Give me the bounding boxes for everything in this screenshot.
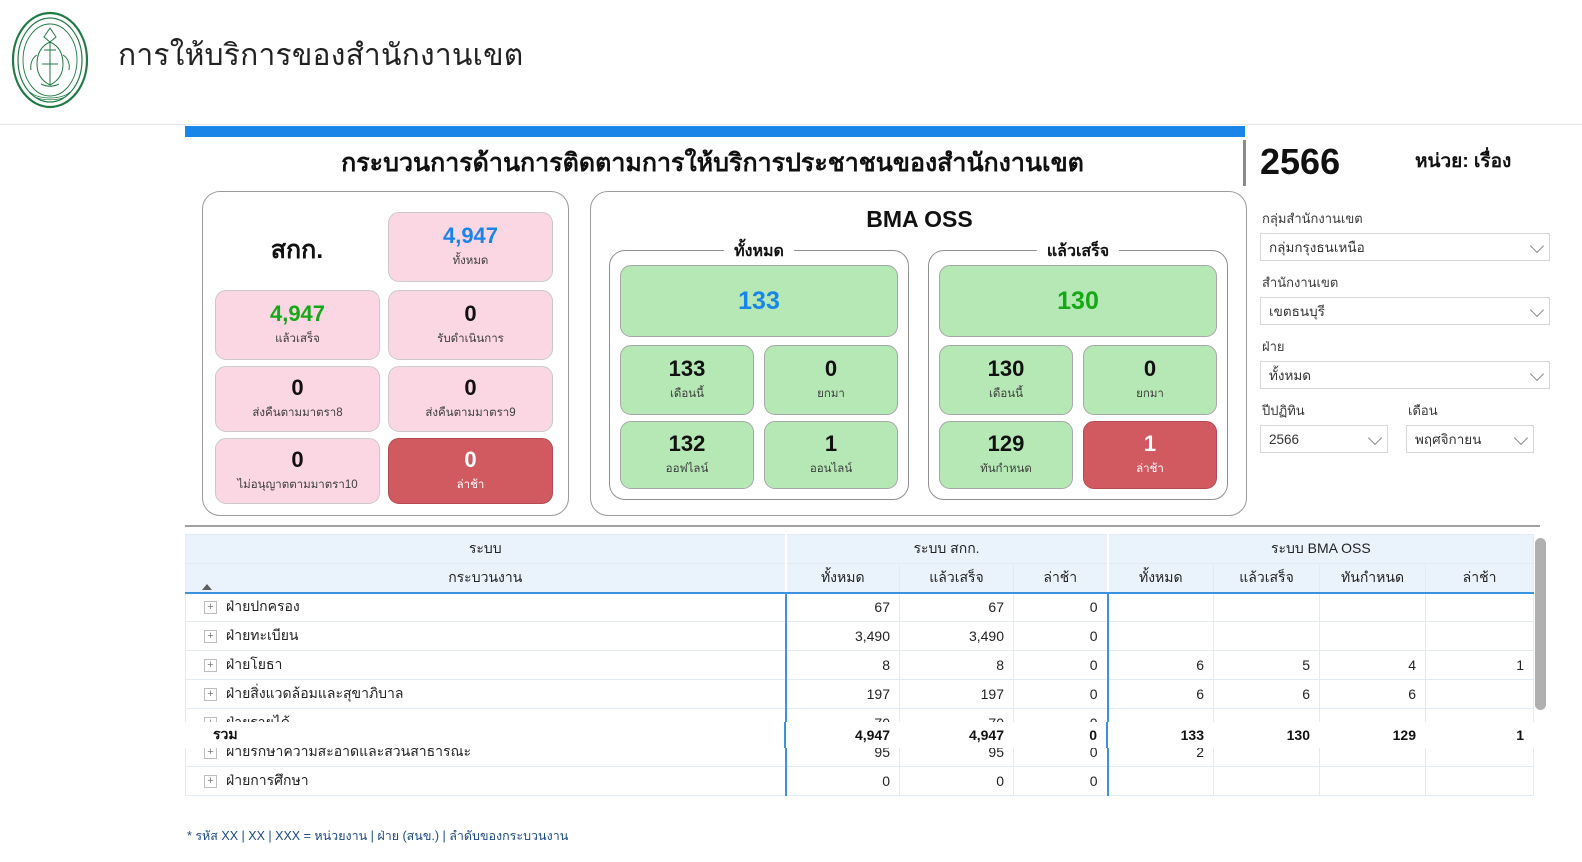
kpi-oss-complete-this-month[interactable]: 130 เดือนนี้ — [939, 345, 1073, 415]
kpi-caption: ล่าช้า — [1136, 460, 1164, 478]
filter-select-month[interactable]: พฤศจิกายน — [1406, 425, 1534, 453]
kpi-value: 4,947 — [270, 302, 325, 325]
filter-select-district-group[interactable]: กลุ่มกรุงธนเหนือ — [1260, 233, 1550, 261]
filter-value-division: ทั้งหมด — [1269, 364, 1311, 386]
kpi-caption: เดือนนี้ — [989, 385, 1023, 403]
chevron-down-icon — [1530, 367, 1544, 381]
process-table[interactable]: ระบบ ระบบ สกก. ระบบ BMA OSS กระบวนงาน ทั… — [185, 534, 1540, 814]
kpi-oss-all-headline[interactable]: 133 — [620, 265, 898, 337]
kpi-sgk-overdue[interactable]: 0 ล่าช้า — [388, 438, 553, 504]
table-cell-sgk-total: 3,490 — [786, 622, 900, 651]
kpi-value: 130 — [1057, 288, 1099, 314]
kpi-value: 4,947 — [443, 224, 498, 247]
kpi-value: 1 — [825, 432, 837, 455]
oss-group-all-legend: ทั้งหมด — [724, 239, 794, 264]
table-cell-sgk-complete: 3,490 — [900, 622, 1014, 651]
bma-seal-icon — [8, 8, 92, 112]
table-cell-oss-overdue: 1 — [1426, 651, 1534, 680]
table-cell-process-name[interactable]: +ฝ่ายการศึกษา — [186, 767, 786, 796]
table-cell-label: ฝ่ายการศึกษา — [226, 772, 309, 788]
total-oss-total: 133 — [1107, 722, 1213, 748]
kpi-oss-all-offline[interactable]: 132 ออฟไลน์ — [620, 421, 754, 489]
oss-group-all: ทั้งหมด 133 133 เดือนนี้ 0 ยกมา 132 ออ — [609, 250, 909, 500]
table-cell-oss-complete: 6 — [1214, 680, 1320, 709]
table-cell-oss-on-time: 4 — [1320, 651, 1426, 680]
kpi-value: 132 — [669, 432, 706, 455]
kpi-value: 0 — [291, 448, 303, 471]
kpi-caption: ส่งคืนตามมาตรา9 — [425, 404, 515, 422]
table-cell-oss-on-time — [1320, 622, 1426, 651]
board-title: กระบวนการด้านการติดตามการให้บริการประชาช… — [185, 143, 1240, 183]
table-row[interactable]: +ฝ่ายโยธา8806541 — [186, 651, 1534, 680]
filter-value-month: พฤศจิกายน — [1415, 428, 1481, 450]
app-header: การให้บริการของสำนักงานเขต — [0, 0, 1582, 125]
kpi-value: 0 — [1144, 357, 1156, 380]
table-group-header-sgk[interactable]: ระบบ สกก. — [786, 535, 1108, 564]
table-cell-sgk-complete: 0 — [900, 767, 1014, 796]
table-cell-label: ฝ่ายโยธา — [226, 656, 282, 672]
table-cell-sgk-total: 67 — [786, 593, 900, 622]
table-cell-sgk-overdue: 0 — [1014, 593, 1108, 622]
total-sgk-overdue: 0 — [1013, 722, 1107, 748]
table-column-process[interactable]: กระบวนงาน — [186, 564, 786, 593]
kpi-value: 0 — [464, 376, 476, 399]
table-scrollbar-thumb[interactable] — [1535, 538, 1546, 710]
filter-select-division[interactable]: ทั้งหมด — [1260, 361, 1550, 389]
table-scrollbar-track[interactable] — [1534, 534, 1546, 814]
table-group-header-oss[interactable]: ระบบ BMA OSS — [1108, 535, 1534, 564]
filter-label-month: เดือน — [1408, 400, 1534, 421]
table-cell-oss-complete — [1214, 767, 1320, 796]
chevron-down-icon — [1514, 431, 1528, 445]
kpi-value: 129 — [988, 432, 1025, 455]
table-row[interactable]: +ฝ่ายปกครอง67670 — [186, 593, 1534, 622]
table-cell-label: ฝ่ายปกครอง — [226, 598, 300, 614]
kpi-sgk-returned-sec9[interactable]: 0 ส่งคืนตามมาตรา9 — [388, 366, 553, 432]
table-column-sgk-total[interactable]: ทั้งหมด — [786, 564, 900, 593]
table-cell-oss-total — [1108, 593, 1214, 622]
table-cell-process-name[interactable]: +ฝ่ายสิ่งแวดล้อมและสุขาภิบาล — [186, 680, 786, 709]
table-cell-oss-overdue — [1426, 680, 1534, 709]
table-cell-sgk-overdue: 0 — [1014, 651, 1108, 680]
expand-row-icon[interactable]: + — [204, 630, 217, 643]
expand-row-icon[interactable]: + — [204, 775, 217, 788]
kpi-caption: เดือนนี้ — [670, 385, 704, 403]
kpi-value: 0 — [825, 357, 837, 380]
kpi-value: 0 — [464, 448, 476, 471]
kpi-oss-all-online[interactable]: 1 ออนไลน์ — [764, 421, 898, 489]
table-cell-sgk-complete: 67 — [900, 593, 1014, 622]
filter-select-year[interactable]: 2566 — [1260, 425, 1388, 453]
kpi-sgk-in-progress[interactable]: 0 รับดำเนินการ — [388, 290, 553, 360]
kpi-caption: ออฟไลน์ — [666, 460, 709, 478]
table-cell-oss-total: 6 — [1108, 680, 1214, 709]
panel-oss-title: BMA OSS — [591, 206, 1248, 233]
kpi-caption: ไม่อนุญาตตามมาตรา10 — [237, 476, 357, 494]
table-column-oss-complete[interactable]: แล้วเสร็จ — [1214, 564, 1320, 593]
table-cell-oss-complete — [1214, 622, 1320, 651]
kpi-oss-complete-on-time[interactable]: 129 ทันกำหนด — [939, 421, 1073, 489]
table-cell-oss-total — [1108, 622, 1214, 651]
filter-value-year: 2566 — [1269, 432, 1299, 447]
oss-group-complete: แล้วเสร็จ 130 130 เดือนนี้ 0 ยกมา 129 — [928, 250, 1228, 500]
table-cell-label: ฝ่ายสิ่งแวดล้อมและสุขาภิบาล — [226, 685, 404, 701]
kpi-caption: ล่าช้า — [457, 476, 485, 494]
year-value: 2566 — [1260, 140, 1340, 184]
table-cell-sgk-overdue: 0 — [1014, 767, 1108, 796]
page-title: การให้บริการของสำนักงานเขต — [118, 32, 523, 79]
kpi-sgk-returned-sec8[interactable]: 0 ส่งคืนตามมาตรา8 — [215, 366, 380, 432]
table-column-sgk-complete[interactable]: แล้วเสร็จ — [900, 564, 1014, 593]
expand-row-icon[interactable]: + — [204, 688, 217, 701]
kpi-caption: ยกมา — [1136, 385, 1164, 403]
kpi-sgk-denied-sec10[interactable]: 0 ไม่อนุญาตตามมาตรา10 — [215, 438, 380, 504]
table-body: +ฝ่ายปกครอง67670+ฝ่ายทะเบียน3,4903,4900+… — [186, 593, 1534, 796]
table-cell-sgk-complete: 8 — [900, 651, 1014, 680]
kpi-value: 133 — [738, 288, 780, 314]
table-cell-oss-on-time — [1320, 593, 1426, 622]
filter-label-year: ปีปฏิทิน — [1262, 400, 1388, 421]
table-cell-oss-total — [1108, 767, 1214, 796]
table-cell-oss-on-time — [1320, 767, 1426, 796]
kpi-oss-all-this-month[interactable]: 133 เดือนนี้ — [620, 345, 754, 415]
kpi-caption: ยกมา — [817, 385, 845, 403]
table-column-oss-total[interactable]: ทั้งหมด — [1108, 564, 1214, 593]
table-cell-sgk-total: 8 — [786, 651, 900, 680]
chevron-down-icon — [1530, 303, 1544, 317]
kpi-value: 133 — [669, 357, 706, 380]
panel-sgk-title: สกก. — [217, 230, 377, 270]
kpi-oss-complete-carried-over[interactable]: 0 ยกมา — [1083, 345, 1217, 415]
table-row[interactable]: +ฝ่ายสิ่งแวดล้อมและสุขาภิบาล1971970666 — [186, 680, 1534, 709]
table-total-row: รวม 4,947 4,947 0 133 130 129 1 — [185, 722, 1540, 748]
table-group-header-system[interactable]: ระบบ — [186, 535, 786, 564]
filter-value-district-group: กลุ่มกรุงธนเหนือ — [1269, 236, 1365, 258]
kpi-oss-complete-overdue[interactable]: 1 ล่าช้า — [1083, 421, 1217, 489]
expand-row-icon[interactable]: + — [204, 601, 217, 614]
table-cell-oss-overdue — [1426, 622, 1534, 651]
kpi-value: 0 — [464, 302, 476, 325]
sort-ascending-icon — [202, 584, 212, 590]
dashboard-board: กระบวนการด้านการติดตามการให้บริการประชาช… — [185, 126, 1582, 862]
total-oss-complete: 130 — [1213, 722, 1319, 748]
kpi-caption: ทันกำหนด — [980, 460, 1032, 478]
dashboard-page: การให้บริการของสำนักงานเขต กระบวนการด้าน… — [0, 0, 1582, 862]
filter-label-district-group: กลุ่มสำนักงานเขต — [1262, 208, 1550, 229]
panel-sgk: สกก. 4,947 ทั้งหมด 4,947 แล้วเสร็จ 0 รับ… — [202, 191, 569, 516]
expand-row-icon[interactable]: + — [204, 659, 217, 672]
year-block: 2566 — [1243, 140, 1340, 186]
filter-select-district[interactable]: เขตธนบุรี — [1260, 297, 1550, 325]
table-cell-sgk-complete: 197 — [900, 680, 1014, 709]
kpi-caption: ออนไลน์ — [810, 460, 852, 478]
total-oss-on-time: 129 — [1319, 722, 1425, 748]
table-cell-oss-total: 6 — [1108, 651, 1214, 680]
total-label: รวม — [185, 722, 785, 748]
table-cell-oss-on-time: 6 — [1320, 680, 1426, 709]
table-column-sgk-overdue[interactable]: ล่าช้า — [1014, 564, 1108, 593]
total-sgk-total: 4,947 — [785, 722, 899, 748]
table-row[interactable]: +ฝ่ายทะเบียน3,4903,4900 — [186, 622, 1534, 651]
table-column-label: กระบวนงาน — [448, 569, 522, 585]
kpi-sgk-complete[interactable]: 4,947 แล้วเสร็จ — [215, 290, 380, 360]
table-cell-sgk-total: 197 — [786, 680, 900, 709]
kpi-sgk-total[interactable]: 4,947 ทั้งหมด — [388, 212, 553, 282]
oss-group-complete-legend: แล้วเสร็จ — [1037, 239, 1119, 264]
section-divider — [185, 525, 1540, 527]
chevron-down-icon — [1368, 431, 1382, 445]
kpi-caption: รับดำเนินการ — [437, 330, 504, 348]
table-cell-oss-overdue — [1426, 767, 1534, 796]
table-cell-process-name[interactable]: +ฝ่ายทะเบียน — [186, 622, 786, 651]
table-cell-label: ฝ่ายทะเบียน — [226, 627, 298, 643]
filter-label-district: สำนักงานเขต — [1262, 272, 1550, 293]
table-cell-sgk-overdue: 0 — [1014, 680, 1108, 709]
panel-oss: BMA OSS ทั้งหมด 133 133 เดือนนี้ 0 ยกมา — [590, 191, 1247, 516]
accent-bar — [185, 126, 1245, 137]
table-column-oss-overdue[interactable]: ล่าช้า — [1426, 564, 1534, 593]
table-cell-sgk-total: 0 — [786, 767, 900, 796]
filter-value-district: เขตธนบุรี — [1269, 300, 1325, 322]
table-cell-sgk-overdue: 0 — [1014, 622, 1108, 651]
kpi-caption: ทั้งหมด — [453, 252, 489, 270]
table-footnote: * รหัส XX | XX | XXX = หน่วยงาน | ฝ่าย (… — [187, 826, 568, 846]
table-cell-process-name[interactable]: +ฝ่ายโยธา — [186, 651, 786, 680]
table-cell-oss-complete: 5 — [1214, 651, 1320, 680]
total-oss-overdue: 1 — [1425, 722, 1533, 748]
table-row[interactable]: +ฝ่ายการศึกษา000 — [186, 767, 1534, 796]
kpi-caption: ส่งคืนตามมาตรา8 — [252, 404, 342, 422]
kpi-caption: แล้วเสร็จ — [275, 330, 320, 348]
filter-label-division: ฝ่าย — [1262, 336, 1550, 357]
table-cell-oss-overdue — [1426, 593, 1534, 622]
kpi-value: 0 — [291, 376, 303, 399]
filter-panel: กลุ่มสำนักงานเขต กลุ่มกรุงธนเหนือ สำนักง… — [1260, 208, 1550, 453]
kpi-value: 1 — [1144, 432, 1156, 455]
table-cell-process-name[interactable]: +ฝ่ายปกครอง — [186, 593, 786, 622]
table-cell-oss-complete — [1214, 593, 1320, 622]
table-column-oss-on-time[interactable]: ทันกำหนด — [1320, 564, 1426, 593]
chevron-down-icon — [1530, 239, 1544, 253]
kpi-value: 130 — [988, 357, 1025, 380]
unit-label: หน่วย: เรื่อง — [1415, 146, 1511, 176]
total-sgk-complete: 4,947 — [899, 722, 1013, 748]
kpi-oss-complete-headline[interactable]: 130 — [939, 265, 1217, 337]
kpi-oss-all-carried-over[interactable]: 0 ยกมา — [764, 345, 898, 415]
